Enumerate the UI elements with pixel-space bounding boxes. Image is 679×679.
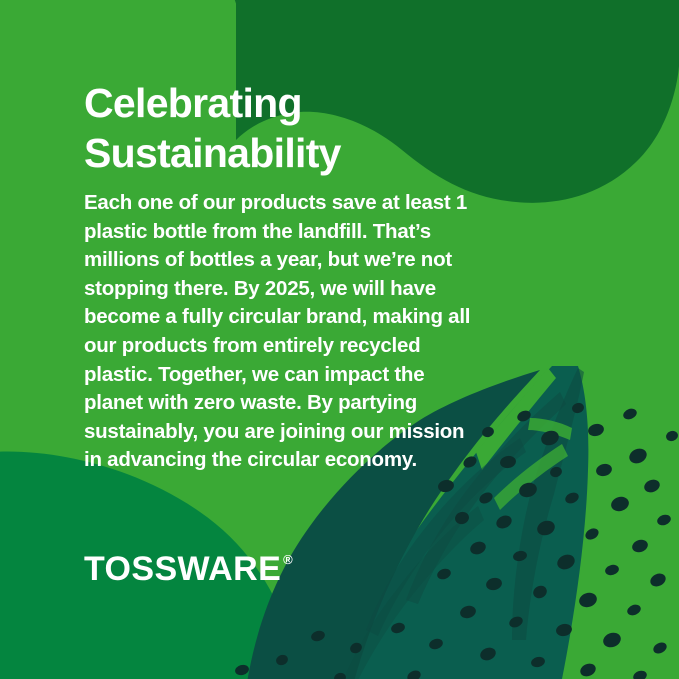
- poster-content: Celebrating Sustainability Each one of o…: [0, 0, 679, 679]
- body-paragraph: Each one of our products save at least 1…: [84, 189, 484, 475]
- brand-wordmark: TOSSWARE: [84, 552, 281, 586]
- sustainability-poster: Celebrating Sustainability Each one of o…: [0, 0, 679, 679]
- page-title: Celebrating Sustainability: [84, 78, 514, 178]
- brand-logo: TOSSWARE ®: [84, 552, 293, 586]
- registered-trademark-icon: ®: [283, 553, 293, 566]
